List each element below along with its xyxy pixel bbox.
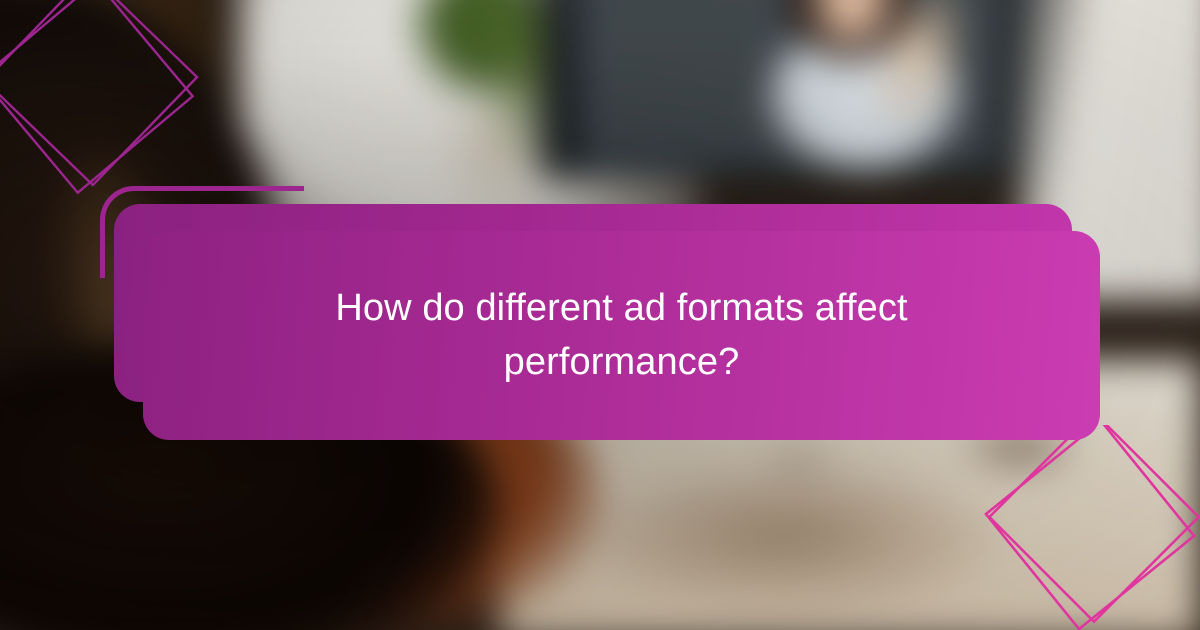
card-stack: How do different ad formats affect perfo… (0, 0, 1200, 630)
card-title-container: How do different ad formats affect perfo… (143, 231, 1100, 440)
accent-outline-cap-horizontal (292, 186, 304, 191)
accent-outline-cap-vertical (100, 266, 105, 278)
social-card-canvas: How do different ad formats affect perfo… (0, 0, 1200, 630)
page-title: How do different ad formats affect perfo… (302, 282, 942, 390)
